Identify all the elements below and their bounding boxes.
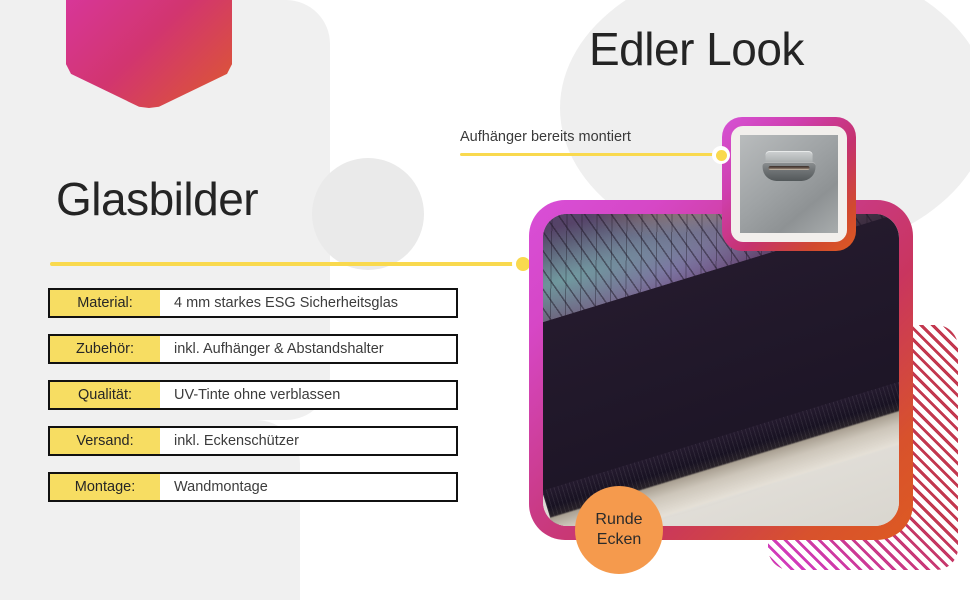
infographic-canvas: Edler Look Glasbilder Aufhänger bereits …: [0, 0, 970, 600]
table-row: Material: 4 mm starkes ESG Sicherheitsgl…: [48, 288, 458, 318]
spec-label: Zubehör:: [50, 336, 160, 362]
spec-value: inkl. Aufhänger & Abstandshalter: [160, 336, 456, 362]
hanger-inset-card-inner: [731, 126, 847, 242]
table-row: Montage: Wandmontage: [48, 472, 458, 502]
round-corners-badge-line1: Runde: [595, 510, 642, 530]
table-row: Zubehör: inkl. Aufhänger & Abstandshalte…: [48, 334, 458, 364]
wall-hanger-icon: [763, 151, 816, 180]
headline: Edler Look: [589, 26, 804, 72]
spec-value: Wandmontage: [160, 474, 456, 500]
hanger-inset-card: [722, 117, 856, 251]
connector-line-hanger: [460, 153, 722, 156]
spec-value: 4 mm starkes ESG Sicherheitsglas: [160, 290, 456, 316]
product-image-frame: [529, 200, 913, 540]
spec-label: Qualität:: [50, 382, 160, 408]
glass-print-slab: [543, 214, 899, 501]
connector-dot-hanger: [712, 146, 730, 164]
spec-label: Montage:: [50, 474, 160, 500]
hanger-photo: [740, 135, 838, 233]
round-corners-badge-line2: Ecken: [597, 530, 641, 550]
spec-table: Material: 4 mm starkes ESG Sicherheitsgl…: [48, 288, 458, 518]
round-corners-badge: Runde Ecken: [575, 486, 663, 574]
table-row: Qualität: UV-Tinte ohne verblassen: [48, 380, 458, 410]
hanger-slot: [768, 166, 809, 170]
page-title: Glasbilder: [56, 176, 258, 222]
hanger-callout-label: Aufhänger bereits montiert: [460, 129, 631, 145]
spec-label: Material:: [50, 290, 160, 316]
spec-label: Versand:: [50, 428, 160, 454]
product-photo: [543, 214, 899, 526]
connector-line-main: [50, 262, 524, 266]
spec-value: inkl. Eckenschützer: [160, 428, 456, 454]
spec-value: UV-Tinte ohne verblassen: [160, 382, 456, 408]
table-row: Versand: inkl. Eckenschützer: [48, 426, 458, 456]
